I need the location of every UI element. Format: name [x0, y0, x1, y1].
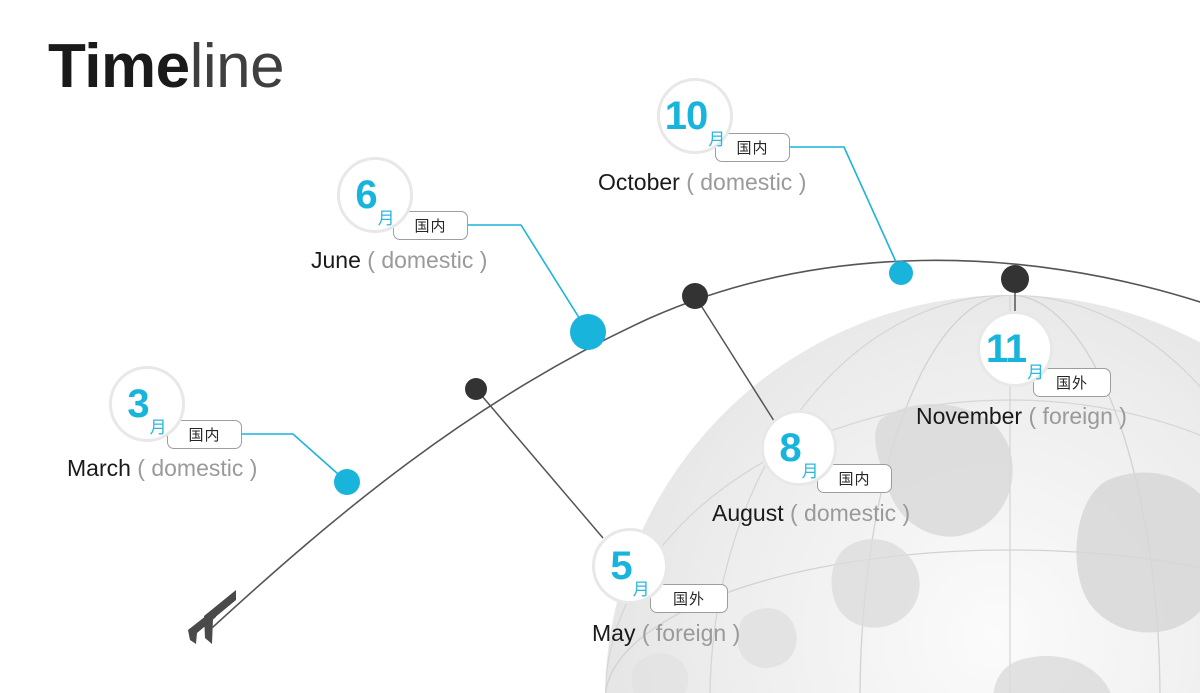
month-suffix-october: 月	[708, 131, 725, 151]
caption-name-august: August	[712, 500, 784, 526]
tag-label-june: 国内	[414, 215, 446, 236]
month-number-november: 11	[986, 329, 1026, 369]
caption-march: March ( domestic )	[67, 457, 257, 480]
connector-march	[242, 434, 347, 482]
month-number-march: 3	[127, 384, 148, 424]
tag-label-march: 国内	[188, 424, 220, 445]
month-suffix-august: 月	[802, 463, 819, 483]
tag-label-august: 国内	[838, 468, 870, 489]
caption-paren-october: ( domestic )	[686, 169, 806, 195]
month-ring-november[interactable]: 11 月	[977, 311, 1053, 387]
tag-label-october: 国内	[736, 137, 768, 158]
month-ring-october[interactable]: 10 月	[657, 78, 733, 154]
caption-june: June ( domestic )	[311, 249, 487, 272]
caption-name-june: June	[311, 247, 361, 273]
caption-november: November ( foreign )	[916, 405, 1127, 428]
dot-march[interactable]	[334, 469, 360, 495]
month-suffix-june: 月	[378, 210, 395, 230]
caption-name-november: November	[916, 403, 1022, 429]
dot-june[interactable]	[570, 314, 606, 350]
caption-paren-may: ( foreign )	[642, 620, 740, 646]
month-ring-march[interactable]: 3 月	[109, 366, 185, 442]
dot-august[interactable]	[682, 283, 708, 309]
month-number-may: 5	[610, 546, 631, 586]
dot-november[interactable]	[1001, 265, 1029, 293]
month-ring-may[interactable]: 5 月	[592, 528, 668, 604]
month-ring-june[interactable]: 6 月	[337, 157, 413, 233]
connector-may	[476, 389, 603, 538]
caption-name-march: March	[67, 455, 131, 481]
month-suffix-may: 月	[633, 581, 650, 601]
timeline-infographic: Timeline	[0, 0, 1200, 693]
connector-august	[695, 296, 776, 424]
month-number-october: 10	[665, 96, 708, 136]
connector-october	[790, 147, 901, 273]
connector-june	[467, 225, 588, 332]
tag-label-may: 国外	[673, 588, 705, 609]
caption-october: October ( domestic )	[598, 171, 806, 194]
dot-october[interactable]	[889, 261, 913, 285]
caption-august: August ( domestic )	[712, 502, 910, 525]
caption-paren-june: ( domestic )	[367, 247, 487, 273]
dot-may[interactable]	[465, 378, 487, 400]
caption-paren-march: ( domestic )	[137, 455, 257, 481]
tag-may[interactable]: 国外	[650, 584, 728, 613]
caption-paren-november: ( foreign )	[1029, 403, 1127, 429]
caption-paren-august: ( domestic )	[790, 500, 910, 526]
month-ring-august[interactable]: 8 月	[761, 410, 837, 486]
tag-label-november: 国外	[1056, 372, 1088, 393]
month-number-august: 8	[779, 428, 800, 468]
caption-name-october: October	[598, 169, 680, 195]
month-number-june: 6	[355, 175, 376, 215]
caption-may: May ( foreign )	[592, 622, 740, 645]
month-suffix-november: 月	[1027, 364, 1044, 384]
month-suffix-march: 月	[150, 419, 167, 439]
airplane-icon	[186, 588, 248, 650]
caption-name-may: May	[592, 620, 635, 646]
